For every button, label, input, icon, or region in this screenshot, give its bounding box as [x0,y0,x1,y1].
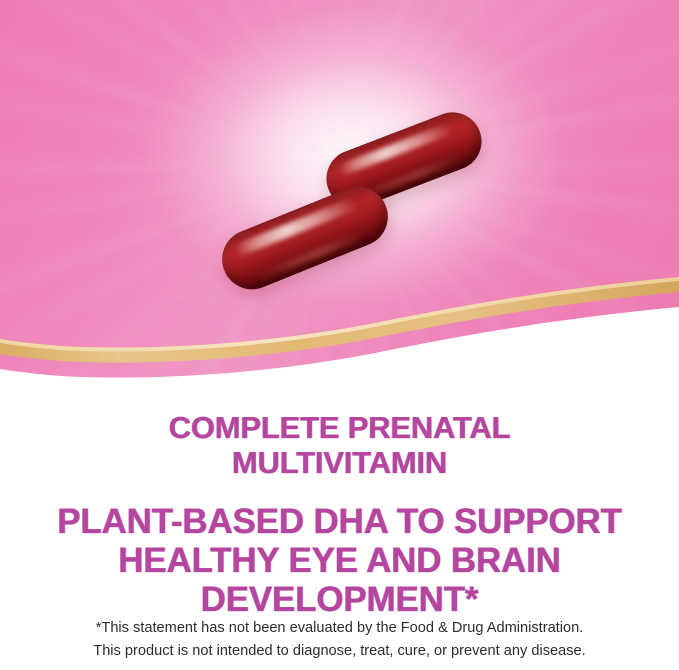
headline-primary-line-2: MULTIVITAMIN [80,445,600,480]
hero-image-area [0,0,679,390]
headline-secondary-line-3: DEVELOPMENT* [30,580,650,619]
headline-primary-line-1: COMPLETE PRENATAL [80,410,600,445]
headline-secondary-line-1: PLANT-BASED DHA TO SUPPORT [30,502,650,541]
fda-disclaimer-line-1: *This statement has not been evaluated b… [0,617,679,640]
headline-primary: COMPLETE PRENATAL MULTIVITAMIN [80,394,600,480]
fda-disclaimer-line-2: This product is not intended to diagnose… [0,640,679,663]
headline-secondary-line-2: HEALTHY EYE AND BRAIN [30,541,650,580]
fda-disclaimer: *This statement has not been evaluated b… [0,617,679,663]
product-banner: COMPLETE PRENATAL MULTIVITAMIN PLANT-BAS… [0,0,679,670]
headline-secondary: PLANT-BASED DHA TO SUPPORT HEALTHY EYE A… [30,480,650,619]
marketing-copy: COMPLETE PRENATAL MULTIVITAMIN PLANT-BAS… [0,394,679,619]
